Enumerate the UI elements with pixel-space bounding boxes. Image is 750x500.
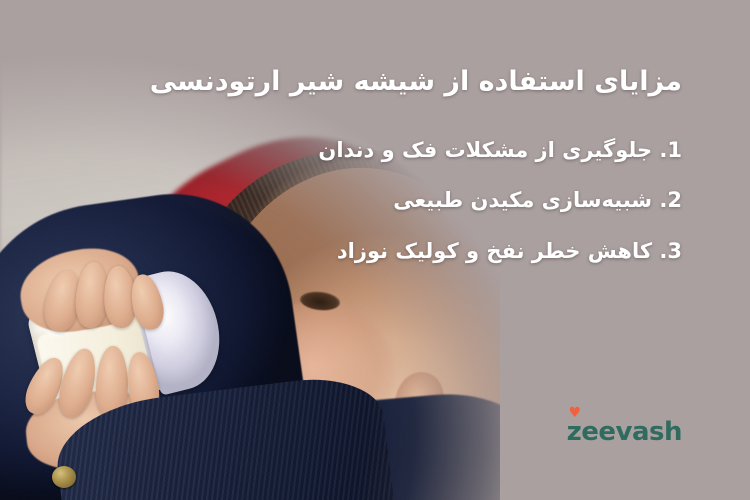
benefit-item-2: 2. شبیه‌سازی مکیدن طبیعی	[318, 186, 682, 214]
text-overlay: مزایای استفاده از شیشه شیر ارتودنسی 1. ج…	[0, 0, 750, 500]
heart-icon: ♥	[569, 408, 580, 419]
benefit-item-1: 1. جلوگیری از مشکلات فک و دندان	[318, 136, 682, 164]
banner-title: مزایای استفاده از شیشه شیر ارتودنسی	[150, 62, 682, 101]
promo-banner: مزایای استفاده از شیشه شیر ارتودنسی 1. ج…	[0, 0, 750, 500]
logo-wordmark-row: ♥ zeevash	[567, 419, 682, 445]
logo-text: zeevash	[567, 417, 682, 447]
zeevash-logo[interactable]: ♥ zeevash	[567, 419, 682, 445]
benefit-item-3: 3. کاهش خطر نفخ و کولیک نوزاد	[318, 237, 682, 265]
benefits-list: 1. جلوگیری از مشکلات فک و دندان 2. شبیه‌…	[318, 136, 682, 265]
